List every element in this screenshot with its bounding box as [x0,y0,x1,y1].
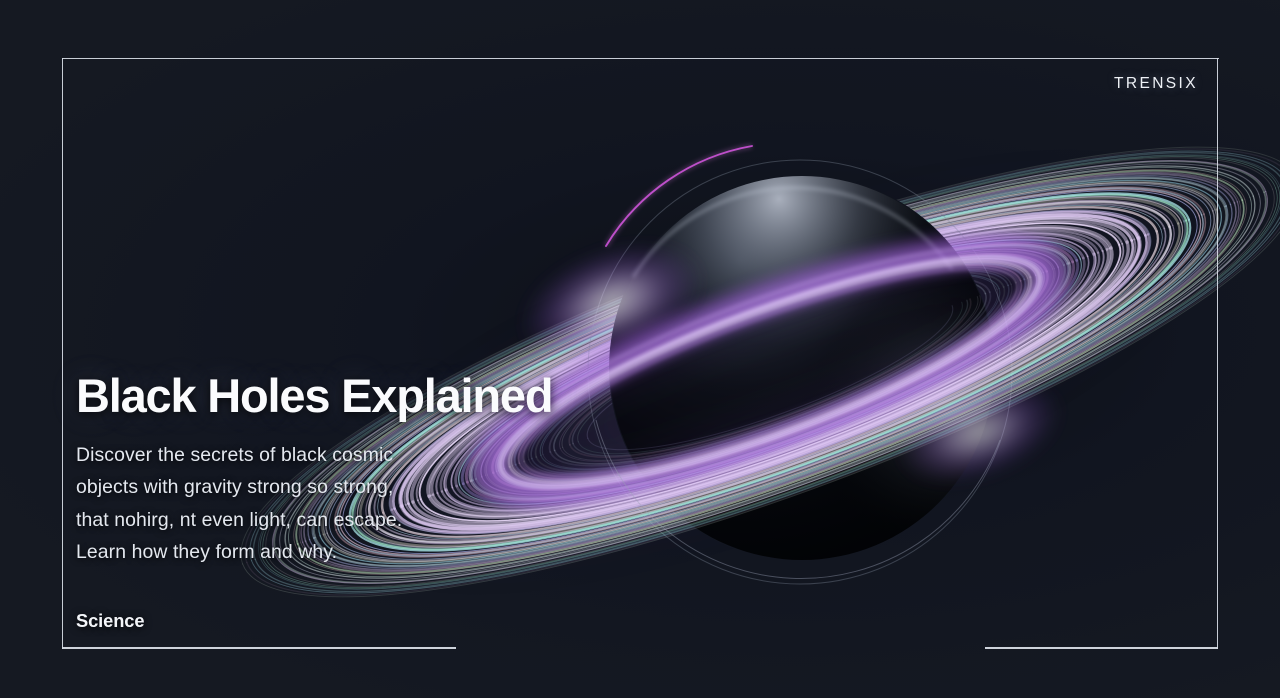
planet-illustration [0,0,1280,698]
hero-banner: TRENSIX Black Holes Explained Discover t… [0,0,1280,698]
frame-border-bottom-right [985,647,1218,649]
description-line: objects with gravity strong so strong, [76,471,776,503]
category-label: Science [76,610,144,632]
planet-artwork [0,0,1280,698]
frame-border-bottom-left [62,647,456,649]
frame-border-right [1217,58,1218,649]
description-line: Learn how they form and why. [76,536,776,568]
description-line: that nohirg, nt even light, can escape. [76,504,776,536]
hero-copy-block: Black Holes Explained Discover the secre… [76,372,776,568]
page-title: Black Holes Explained [76,372,776,419]
hero-description: Discover the secrets of black cosmic obj… [76,439,776,568]
frame-border-left [62,58,63,649]
frame-border-top [62,58,1219,59]
description-line: Discover the secrets of black cosmic [76,439,776,471]
brand-wordmark: TRENSIX [1114,75,1198,93]
